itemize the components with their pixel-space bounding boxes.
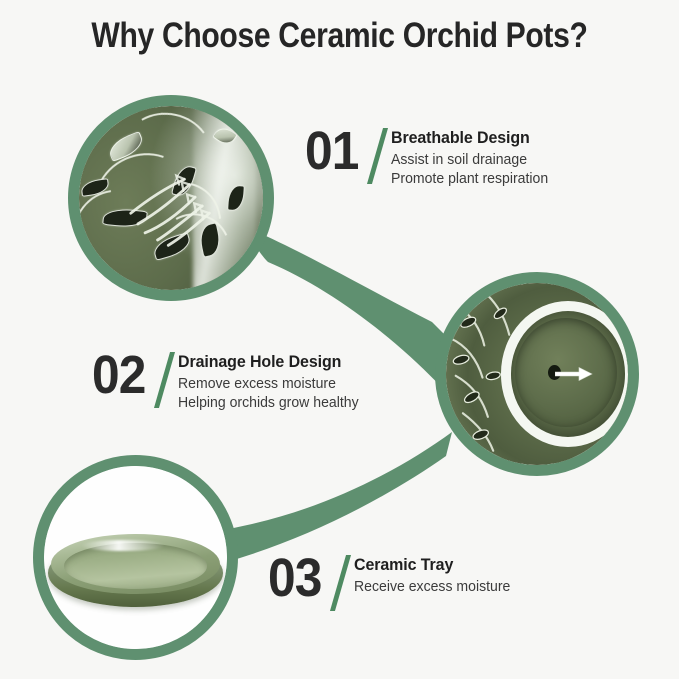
feature-line: Promote plant respiration [391,170,548,189]
slash-divider-icon [152,350,178,408]
page-title: Why Choose Ceramic Orchid Pots? [48,16,632,56]
feature-image-03-inner [44,466,227,649]
feature-text-03: Ceramic Tray Receive excess moisture [354,553,515,597]
feature-text-02: Drainage Hole Design Remove excess moist… [178,350,364,414]
feature-heading-01: Breathable Design [391,128,543,148]
feature-text-01: Breathable Design Assist in soil drainag… [391,126,553,190]
drainage-arrow-icon [555,367,593,381]
feature-image-01 [68,95,274,301]
slash-divider-icon [328,553,354,611]
feature-image-02 [435,272,639,476]
feature-number-03: 03 [268,553,321,604]
feature-callout-01: 01 Breathable Design Assist in soil drai… [305,126,553,190]
feature-heading-02: Drainage Hole Design [178,352,353,372]
feature-line: Receive excess moisture [354,578,510,597]
feature-image-03 [33,455,238,660]
feature-image-01-inner [79,106,263,290]
tray-scene [44,466,227,649]
feature-heading-03: Ceramic Tray [354,555,506,575]
feature-line: Helping orchids grow healthy [178,394,359,413]
feature-callout-03: 03 Ceramic Tray Receive excess moisture [268,553,515,611]
feature-line: Remove excess moisture [178,375,359,394]
stem-strokes [79,106,263,290]
tray-highlight [81,540,165,551]
feature-number-02: 02 [92,350,145,401]
feature-callout-02: 02 Drainage Hole Design Remove excess mo… [92,350,364,414]
slash-divider-icon [365,126,391,184]
feature-image-02-inner [446,283,628,465]
feature-number-01: 01 [305,126,358,177]
feature-line: Assist in soil drainage [391,151,548,170]
infographic-root: Why Choose Ceramic Orchid Pots? [0,0,679,679]
